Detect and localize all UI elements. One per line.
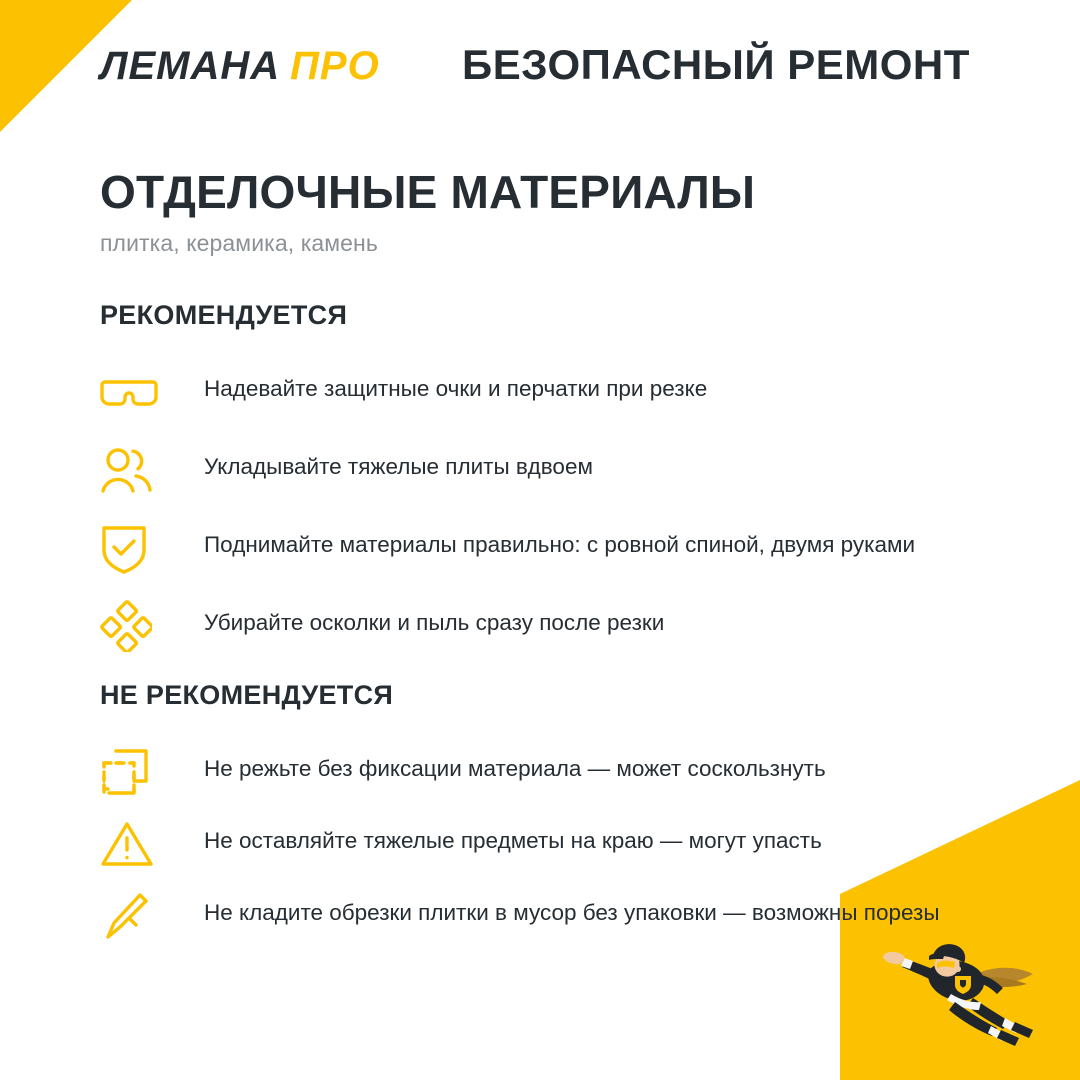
two-people-icon: [100, 443, 162, 495]
list-item-text: Надевайте защитные очки и перчатки при р…: [204, 365, 707, 405]
header: ЛЕМАНАПРО БЕЗОПАСНЫЙ РЕМОНТ: [0, 0, 1080, 140]
list-item: Убирайте осколки и пыль сразу после резк…: [100, 599, 980, 651]
logo-text-lemana: ЛЕМАНА: [100, 44, 280, 88]
recommended-list: Надевайте защитные очки и перчатки при р…: [100, 365, 980, 651]
logo-text-pro: ПРО: [290, 44, 380, 88]
section-heading-recommended: РЕКОМЕНДУЕТСЯ: [100, 300, 980, 331]
list-item: Не оставляйте тяжелые предметы на краю —…: [100, 817, 980, 869]
diamond-cluster-icon: [100, 599, 162, 651]
list-item-text: Укладывайте тяжелые плиты вдвоем: [204, 443, 593, 483]
list-item: Укладывайте тяжелые плиты вдвоем: [100, 443, 980, 495]
section-heading-not-recommended: НЕ РЕКОМЕНДУЕТСЯ: [100, 680, 980, 711]
list-item-text: Поднимайте материалы правильно: с ровной…: [204, 521, 915, 561]
flying-safety-hero-mascot: [877, 926, 1052, 1046]
list-item: Не режьте без фиксации материала — может…: [100, 745, 980, 797]
header-tagline: БЕЗОПАСНЫЙ РЕМОНТ: [462, 44, 970, 86]
title-block: ОТДЕЛОЧНЫЕ МАТЕРИАЛЫ плитка, керамика, к…: [100, 168, 755, 257]
shield-check-icon: [100, 521, 162, 573]
knife-icon: [100, 889, 162, 941]
section-recommended: РЕКОМЕНДУЕТСЯ Надевайте защитные очки и …: [100, 300, 980, 677]
poster-canvas: ЛЕМАНАПРО БЕЗОПАСНЫЙ РЕМОНТ ОТДЕЛОЧНЫЕ М…: [0, 0, 1080, 1080]
list-item-text: Не кладите обрезки плитки в мусор без уп…: [204, 889, 940, 929]
section-not-recommended: НЕ РЕКОМЕНДУЕТСЯ Не режьте без фиксации …: [100, 680, 980, 961]
safety-goggles-icon: [100, 365, 162, 417]
page-title: ОТДЕЛОЧНЫЕ МАТЕРИАЛЫ: [100, 168, 755, 218]
page-subtitle: плитка, керамика, камень: [100, 230, 755, 257]
brand-logo: ЛЕМАНАПРО: [100, 46, 380, 86]
list-item-text: Убирайте осколки и пыль сразу после резк…: [204, 599, 664, 639]
list-item-text: Не оставляйте тяжелые предметы на краю —…: [204, 817, 822, 857]
list-item: Поднимайте материалы правильно: с ровной…: [100, 521, 980, 573]
warning-triangle-icon: [100, 817, 162, 869]
list-item-text: Не режьте без фиксации материала — может…: [204, 745, 826, 785]
unfixed-sheet-icon: [100, 745, 162, 797]
list-item: Надевайте защитные очки и перчатки при р…: [100, 365, 980, 417]
not-recommended-list: Не режьте без фиксации материала — может…: [100, 745, 980, 941]
list-item: Не кладите обрезки плитки в мусор без уп…: [100, 889, 980, 941]
